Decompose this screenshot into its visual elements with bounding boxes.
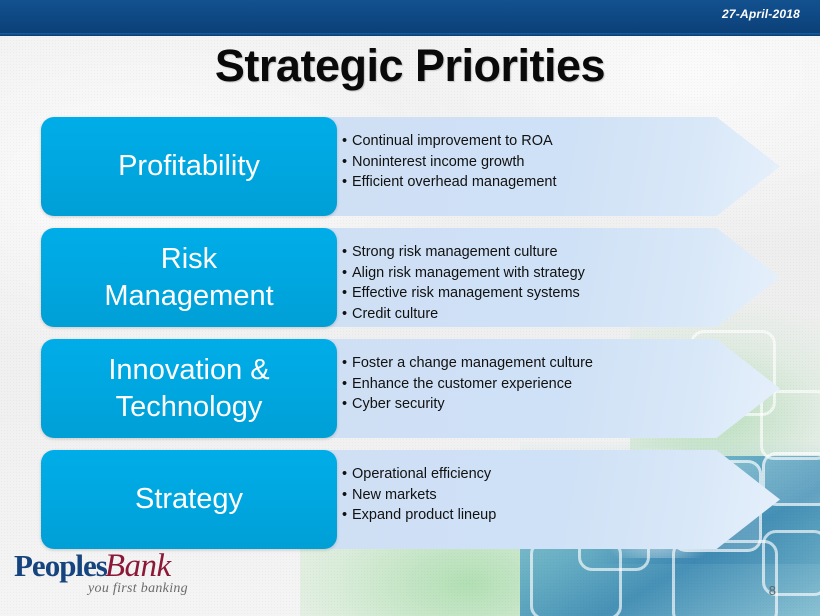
priority-row-strategy: Strategy Operational efficiency New mark… [0,450,820,549]
priority-label: Strategy [135,481,243,518]
priority-label-box[interactable]: Strategy [41,450,337,549]
list-item: Cyber security [342,394,742,415]
priority-label-box[interactable]: Profitability [41,117,337,216]
list-item: New markets [342,485,742,506]
priority-bullet-list: Operational efficiency New markets Expan… [342,464,742,526]
company-logo: PeoplesBank you first banking [14,548,214,600]
list-item: Efficient overhead management [342,172,742,193]
slide-header-band [0,0,820,33]
logo-bank-text: Bank [105,548,171,584]
list-item: Foster a change management culture [342,353,742,374]
priority-label: Profitability [118,148,260,185]
priority-label: Risk Management [104,241,273,315]
list-item: Credit culture [342,304,742,325]
priority-bullet-list: Foster a change management culture Enhan… [342,353,742,415]
priority-row-risk-management: Risk Management Strong risk management c… [0,228,820,327]
list-item: Operational efficiency [342,464,742,485]
priority-label-box[interactable]: Innovation & Technology [41,339,337,438]
page-title: Strategic Priorities [0,40,820,92]
list-item: Noninterest income growth [342,152,742,173]
priority-bullet-list: Strong risk management culture Align ris… [342,242,742,325]
priority-label: Innovation & Technology [108,352,269,426]
priority-row-innovation-technology: Innovation & Technology Foster a change … [0,339,820,438]
presentation-slide: 27-April-2018 Strategic Priorities Profi… [0,0,820,616]
logo-peoples-text: Peoples [14,548,107,583]
priority-bullet-list: Continual improvement to ROA Noninterest… [342,131,742,193]
slide-header-underline [0,33,820,36]
logo-wordmark: PeoplesBank [14,548,171,585]
logo-tagline: you first banking [88,581,188,597]
page-number: 8 [769,583,776,598]
list-item: Continual improvement to ROA [342,131,742,152]
priority-row-profitability: Profitability Continual improvement to R… [0,117,820,216]
list-item: Effective risk management systems [342,283,742,304]
list-item: Expand product lineup [342,505,742,526]
list-item: Enhance the customer experience [342,374,742,395]
list-item: Strong risk management culture [342,242,742,263]
list-item: Align risk management with strategy [342,263,742,284]
priority-label-box[interactable]: Risk Management [41,228,337,327]
slide-date: 27-April-2018 [722,7,800,21]
